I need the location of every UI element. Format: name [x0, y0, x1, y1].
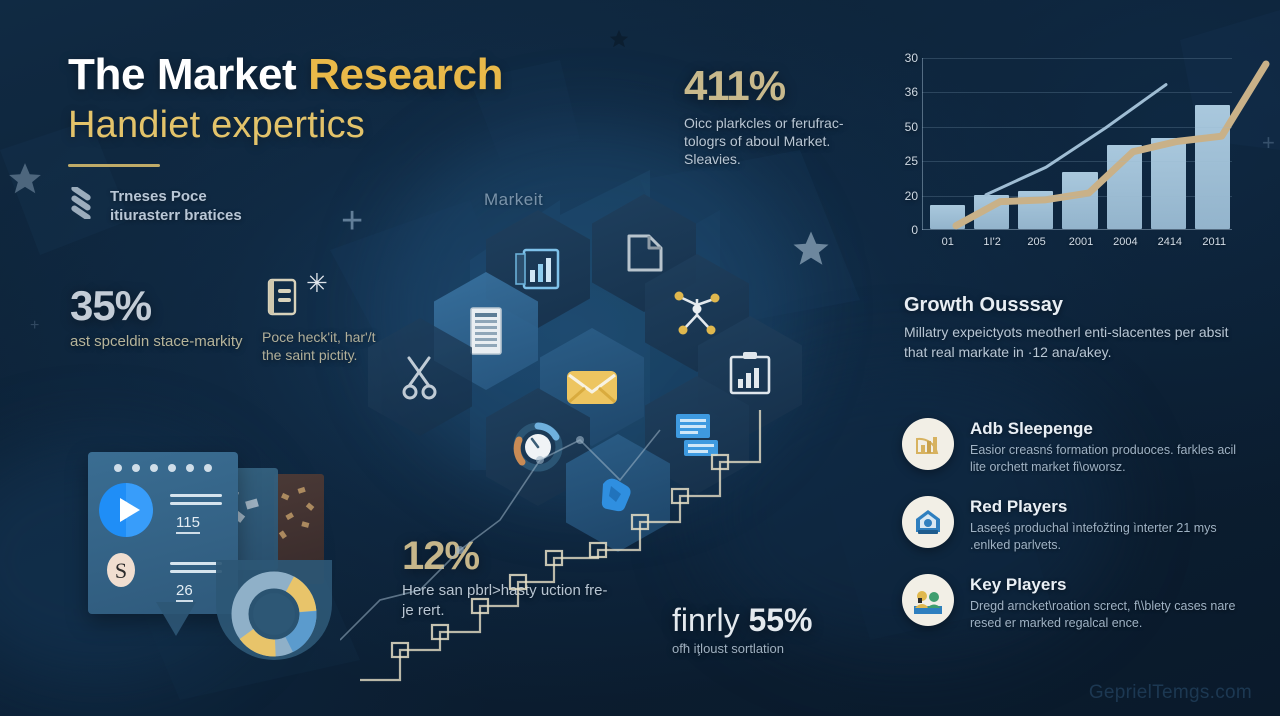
feature-description: Laseęś produchal ìntefožting ìnterter 21… [970, 520, 1238, 555]
chart-gridline [922, 196, 1232, 197]
chart-gridline [922, 127, 1232, 128]
growth-body: Millatry expeictyots meotherl enti-slace… [904, 323, 1234, 363]
center-label: Markeit [484, 190, 543, 210]
chart-y-axis: 30365025200 [888, 52, 918, 230]
chart-x-tick: 01 [930, 236, 965, 248]
chart-y-tick: 20 [905, 189, 918, 203]
feature-title: Adb Sleepenge [970, 419, 1238, 439]
page-subtitle: Handiet expertics [68, 105, 708, 146]
dashboard-metric-1: 115 [176, 514, 200, 534]
house-shield-icon [902, 496, 954, 548]
stat-caption: ast spceldin stace-markity [70, 332, 280, 352]
growth-bar-chart: 30365025200 011I'22052001200424142011 [888, 52, 1236, 264]
clipboard-chart-icon [725, 349, 775, 401]
feature-body: Adb SleepengeEasior creasnś formation pr… [970, 418, 1238, 476]
feature-item[interactable]: Adb SleepengeEasior creasnś formation pr… [902, 418, 1238, 476]
growth-chart-icon [902, 418, 954, 470]
brand-line-2: itiurasterr bratices [110, 206, 242, 225]
feature-description: Easior creasnś formation produoces. fark… [970, 442, 1238, 477]
stat-block-left: 35% ast spceldin stace-markity [70, 282, 280, 352]
chart-x-tick: 1I'2 [974, 236, 1009, 248]
chart-y-tick: 0 [911, 223, 918, 237]
stat-value-number: 55% [748, 602, 812, 638]
chart-y-tick: 50 [905, 120, 918, 134]
file-folder-icon [619, 228, 669, 278]
handshake-icon [593, 468, 643, 518]
growth-summary: Growth Ousssay Millatry expeictyots meot… [904, 294, 1234, 363]
svg-text:S: S [115, 558, 127, 583]
feature-body: Key PlayersDregd arncket\roation screct,… [970, 574, 1238, 632]
dashboard-line [170, 570, 222, 573]
chart-y-tick: 25 [905, 154, 918, 168]
dashboard-metric-2: 26 [176, 582, 193, 602]
stat-caption: Here san pbrl>hasty uction fre-je rert. [402, 581, 612, 620]
page-title-accent: Research [308, 50, 503, 99]
document-lines-icon [670, 410, 724, 460]
chart-trend-lines [956, 64, 1266, 236]
watermark: GeprielTemgs.com [1089, 682, 1252, 704]
people-group-icon [902, 574, 954, 626]
dashboard-line [170, 562, 222, 565]
dashboard-dots [98, 464, 228, 472]
feature-item[interactable]: Key PlayersDregd arncket\roation screct,… [902, 574, 1238, 632]
chart-plot-area [922, 58, 1232, 230]
sparkle-icon: ✳ [306, 270, 328, 296]
play-button-icon[interactable] [98, 482, 154, 543]
chart-x-tick: 2004 [1108, 236, 1143, 248]
dashboard-line [170, 494, 222, 497]
chart-gridline [922, 92, 1232, 93]
stat-caption: ofħ iţloust sortlation [672, 641, 892, 658]
chart-gridline [922, 161, 1232, 162]
chart-gridline [922, 58, 1232, 59]
chart-y-tick: 30 [905, 51, 918, 65]
feature-body: Red PlayersLaseęś produchal ìntefožting … [970, 496, 1238, 554]
double-slash-logo-icon [68, 187, 96, 219]
stat-caption: Oicc plarkcles or ferufrac- tologrs of a… [684, 114, 874, 169]
dollar-coin-icon: S [104, 550, 138, 595]
stat-value: finrly 55% [672, 602, 892, 639]
chart-y-tick: 36 [905, 85, 918, 99]
scissors-icon [397, 352, 443, 402]
note-icon-group: ✳ [262, 278, 392, 322]
page-title: The Market Research [68, 52, 708, 99]
book-icon [266, 278, 300, 323]
hexagon-icon-cluster: Markeit [380, 176, 800, 526]
stat-value: 411% [684, 62, 874, 110]
title-divider [68, 164, 160, 167]
chart-x-tick: 2001 [1063, 236, 1098, 248]
dashboard-illustration: S 115 26 [88, 452, 388, 668]
stat-value: 35% [70, 282, 280, 330]
bar-chart-document-icon [512, 244, 564, 294]
plus-icon: + [30, 318, 39, 334]
stat-block-top-right: 411% Oicc plarkcles or ferufrac- tologrs… [684, 62, 874, 169]
feature-title: Red Players [970, 497, 1238, 517]
dashboard-line [170, 502, 222, 505]
donut-chart-icon [216, 560, 332, 664]
feature-description: Dregd arncket\roation screct, f\\blety c… [970, 598, 1238, 633]
infographic-canvas: + + + The Market Research Handiet expert… [0, 0, 1280, 716]
stat-block-bottom-center: 12% Here san pbrl>hasty uction fre-je re… [402, 534, 612, 620]
envelope-icon [564, 365, 620, 409]
feature-list: Adb SleepengeEasior creasnś formation pr… [902, 418, 1238, 652]
stat-value: 12% [402, 534, 612, 579]
chart-x-tick: 205 [1019, 236, 1054, 248]
chart-x-tick: 2011 [1197, 236, 1232, 248]
growth-heading: Growth Ousssay [904, 294, 1234, 317]
gauge-speedometer-icon [512, 421, 564, 473]
chart-axis-vertical [922, 58, 923, 230]
chart-x-labels: 011I'22052001200424142011 [922, 236, 1232, 248]
brand-text: Trneses Poce itiurasterr bratices [110, 187, 242, 225]
feature-item[interactable]: Red PlayersLaseęś produchal ìntefožting … [902, 496, 1238, 554]
chart-x-tick: 2414 [1152, 236, 1187, 248]
stat-block-bottom-right: finrly 55% ofħ iţloust sortlation [672, 602, 892, 658]
feature-title: Key Players [970, 575, 1238, 595]
brand-line-1: Trneses Poce [110, 187, 242, 206]
stat-prefix: finrly [672, 602, 748, 638]
network-nodes-icon [670, 287, 724, 339]
page-title-main: The Market [68, 50, 308, 99]
speech-tail [156, 602, 196, 636]
